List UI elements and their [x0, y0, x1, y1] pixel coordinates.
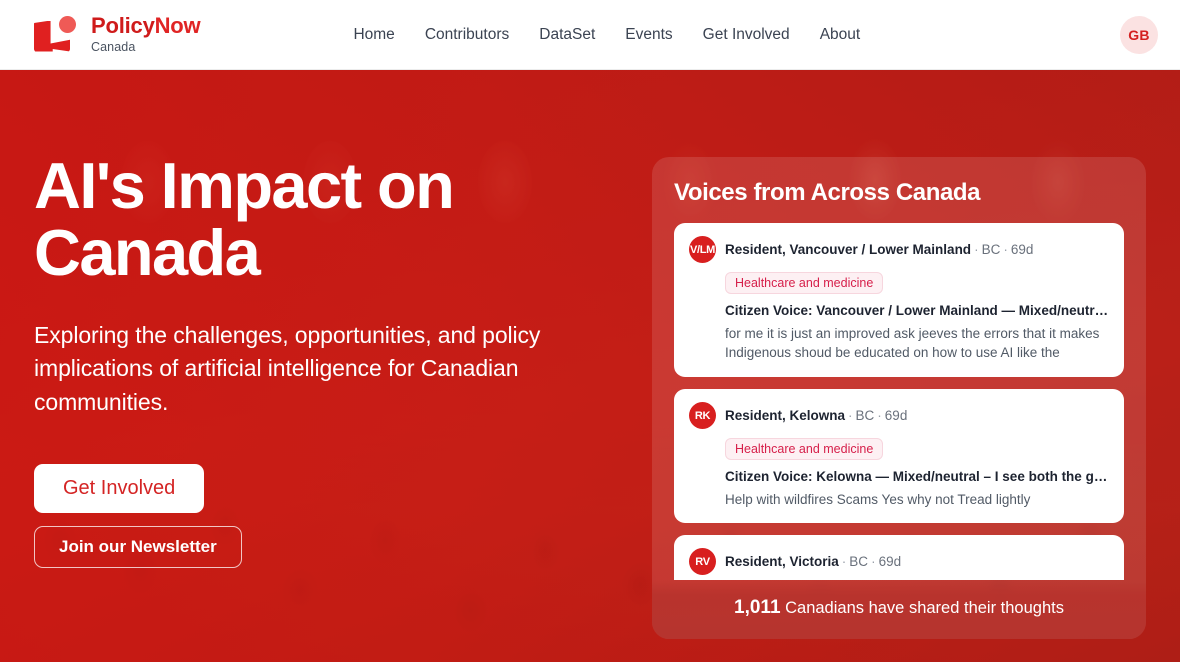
- brand-name: PolicyNow: [91, 15, 200, 37]
- voice-author: Resident, Victoria: [725, 554, 839, 569]
- hero-actions: Get Involved Join our Newsletter: [34, 464, 619, 568]
- brand-name-part2: Now: [155, 13, 201, 38]
- nav-item-contributors[interactable]: Contributors: [425, 26, 509, 44]
- voice-avatar: RV: [689, 548, 716, 575]
- nav-item-home[interactable]: Home: [353, 26, 394, 44]
- voices-count-label: Canadians have shared their thoughts: [785, 599, 1064, 617]
- site-header: PolicyNow Canada Home Contributors DataS…: [0, 0, 1180, 70]
- nav-item-events[interactable]: Events: [625, 26, 672, 44]
- hero-title: AI's Impact on Canada: [34, 153, 504, 287]
- voice-topic-tag: Healthcare and medicine: [725, 438, 883, 460]
- meta-separator: ·: [874, 408, 885, 423]
- brand-text: PolicyNow Canada: [91, 15, 200, 54]
- voice-card[interactable]: RK Resident, Kelowna·BC·69d Healthcare a…: [674, 389, 1124, 523]
- voices-panel-footer: 1,011 Canadians have shared their though…: [652, 580, 1146, 639]
- voices-panel-title: Voices from Across Canada: [674, 179, 1124, 207]
- get-involved-button[interactable]: Get Involved: [34, 464, 204, 513]
- brand-logo[interactable]: PolicyNow Canada: [34, 15, 200, 55]
- hero-content: AI's Impact on Canada Exploring the chal…: [34, 70, 619, 662]
- voice-body: Help with wildfires Scams Yes why not Tr…: [725, 490, 1109, 509]
- voice-meta: Resident, Kelowna·BC·69d: [725, 408, 907, 423]
- voice-region: BC: [982, 242, 1001, 257]
- flag-book-icon: [34, 15, 80, 55]
- meta-separator: ·: [868, 554, 879, 569]
- hero-subtitle: Exploring the challenges, opportunities,…: [34, 319, 546, 420]
- join-newsletter-button[interactable]: Join our Newsletter: [34, 526, 242, 568]
- main-navigation: Home Contributors DataSet Events Get Inv…: [353, 26, 860, 44]
- voice-avatar: V/LM: [689, 236, 716, 263]
- nav-item-get-involved[interactable]: Get Involved: [703, 26, 790, 44]
- voice-meta: Resident, Victoria·BC·69d: [725, 554, 901, 569]
- voice-card-header: V/LM Resident, Vancouver / Lower Mainlan…: [689, 236, 1109, 263]
- voice-age: 69d: [885, 408, 908, 423]
- voices-panel: Voices from Across Canada V/LM Resident,…: [652, 157, 1146, 639]
- voice-author: Resident, Vancouver / Lower Mainland: [725, 242, 971, 257]
- nav-item-dataset[interactable]: DataSet: [539, 26, 595, 44]
- voices-count: 1,011: [734, 597, 781, 618]
- voice-headline: Citizen Voice: Kelowna — Mixed/neutral –…: [725, 469, 1109, 484]
- voice-age: 69d: [879, 554, 902, 569]
- brand-name-part1: Policy: [91, 13, 155, 38]
- hero-section: AI's Impact on Canada Exploring the chal…: [0, 70, 1180, 662]
- nav-item-about[interactable]: About: [820, 26, 861, 44]
- meta-separator: ·: [839, 554, 850, 569]
- meta-separator: ·: [971, 242, 982, 257]
- voice-card-header: RV Resident, Victoria·BC·69d: [689, 548, 1109, 575]
- meta-separator: ·: [1000, 242, 1011, 257]
- voice-card[interactable]: RV Resident, Victoria·BC·69d Not sure Ci…: [674, 535, 1124, 580]
- voice-author: Resident, Kelowna: [725, 408, 845, 423]
- voice-age: 69d: [1011, 242, 1034, 257]
- meta-separator: ·: [845, 408, 856, 423]
- brand-subtitle: Canada: [91, 41, 200, 54]
- voice-meta: Resident, Vancouver / Lower Mainland·BC·…: [725, 242, 1033, 257]
- voice-body: for me it is just an improved ask jeeves…: [725, 324, 1109, 363]
- voices-scroll-container[interactable]: V/LM Resident, Vancouver / Lower Mainlan…: [674, 223, 1124, 580]
- voice-region: BC: [856, 408, 875, 423]
- voice-headline: Citizen Voice: Vancouver / Lower Mainlan…: [725, 303, 1109, 318]
- voice-avatar: RK: [689, 402, 716, 429]
- voice-card-header: RK Resident, Kelowna·BC·69d: [689, 402, 1109, 429]
- voice-topic-tag: Healthcare and medicine: [725, 272, 883, 294]
- voice-region: BC: [849, 554, 868, 569]
- user-avatar[interactable]: GB: [1120, 16, 1158, 54]
- voice-card[interactable]: V/LM Resident, Vancouver / Lower Mainlan…: [674, 223, 1124, 377]
